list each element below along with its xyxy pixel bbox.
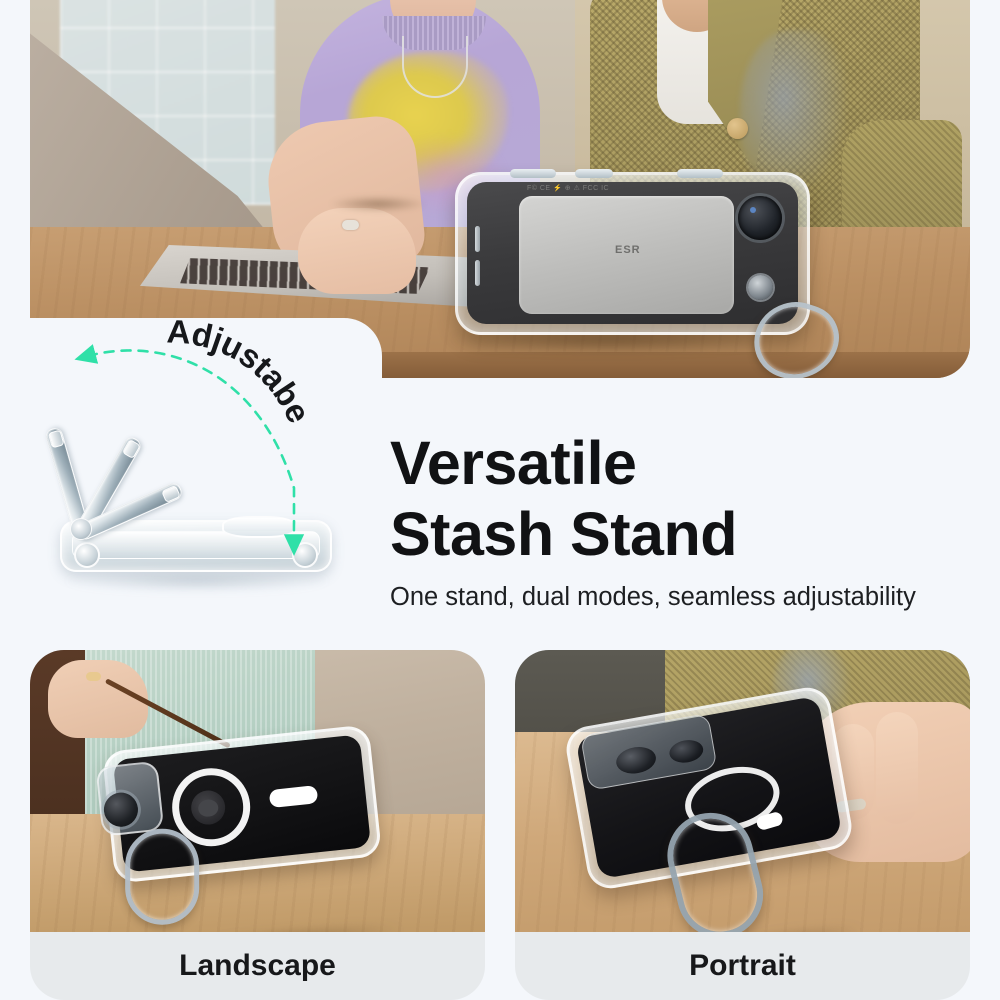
- portrait-camera-lens-1: [614, 744, 658, 777]
- portrait-photo: [515, 650, 970, 932]
- magsafe-alignment-pill: [269, 785, 319, 808]
- landscape-photo: [30, 650, 485, 932]
- portrait-finger-2: [876, 712, 918, 824]
- portrait-caption-label: Portrait: [689, 949, 796, 983]
- portrait-camera-lens-2: [668, 738, 705, 766]
- headline-line-2: Stash Stand: [390, 499, 990, 570]
- landscape-phone: [102, 724, 382, 883]
- adjustable-stand-illustration: Adjustabe: [44, 338, 374, 618]
- jacket-button: [727, 118, 748, 139]
- case-button-cover-2: [575, 169, 613, 178]
- subtitle-text: One stand, dual modes, seamless adjustab…: [390, 583, 990, 612]
- case-button-cover-1: [510, 169, 556, 178]
- landscape-caption-label: Landscape: [179, 949, 336, 983]
- landscape-camera-module: [95, 761, 164, 837]
- esr-logo: ESR: [615, 244, 641, 256]
- portrait-caption-bar: Portrait: [515, 932, 970, 1000]
- landscape-mode-panel: Landscape: [30, 650, 485, 1000]
- volume-up-button: [475, 226, 480, 252]
- regulatory-markings: F© CE ⚡ ⊕ ⚠ FCC IC: [527, 184, 737, 196]
- marketing-image-stage: F© CE ⚡ ⊕ ⚠ FCC IC ESR: [0, 0, 1000, 1000]
- landscape-camera-lens: [102, 791, 139, 828]
- volume-down-button: [475, 260, 480, 286]
- landscape-caption-bar: Landscape: [30, 932, 485, 1000]
- woman-ring: [342, 220, 359, 230]
- adjustable-label: Adjustabe: [44, 338, 374, 618]
- landscape-ring: [86, 672, 101, 681]
- portrait-mode-panel: Portrait: [515, 650, 970, 1000]
- headline-block: Versatile Stash Stand: [390, 428, 990, 570]
- camera-lens-main: [738, 196, 782, 240]
- case-button-cover-3: [677, 169, 723, 178]
- hero-phone-with-case: F© CE ⚡ ⊕ ⚠ FCC IC ESR: [455, 172, 810, 335]
- kickstand-loop-landscape: [125, 829, 199, 925]
- headline-line-1: Versatile: [390, 428, 990, 499]
- phone-back-hero: F© CE ⚡ ⊕ ⚠ FCC IC ESR: [467, 182, 798, 324]
- hero-kickstand-shadow: [330, 196, 426, 212]
- camera-lens-secondary: [748, 275, 773, 300]
